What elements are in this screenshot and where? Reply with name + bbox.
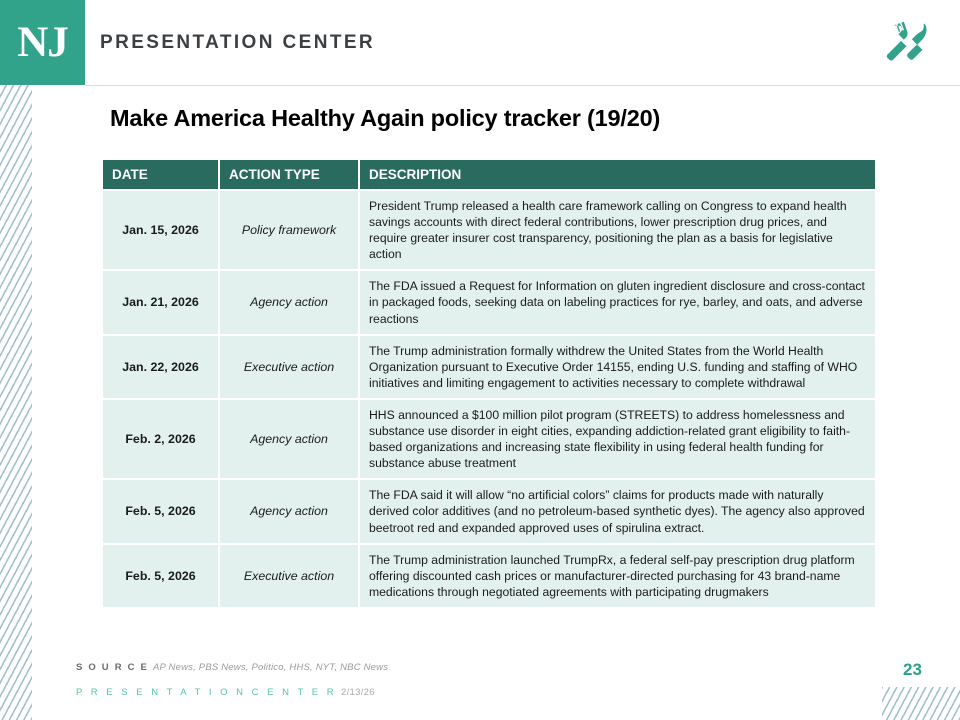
policy-tracker-table: DATE ACTION TYPE DESCRIPTION Jan. 15, 20… xyxy=(103,160,875,607)
cell-description: President Trump released a health care f… xyxy=(359,190,875,270)
table-row: Jan. 22, 2026 Executive action The Trump… xyxy=(103,335,875,399)
page-title: Make America Healthy Again policy tracke… xyxy=(110,105,660,132)
cell-description: The FDA said it will allow “no artificia… xyxy=(359,479,875,543)
cell-action-type: Policy framework xyxy=(219,190,359,270)
slide-footer: S O U R C E AP News, PBS News, Politico,… xyxy=(76,654,388,704)
table-row: Feb. 5, 2026 Executive action The Trump … xyxy=(103,544,875,607)
source-line: S O U R C E AP News, PBS News, Politico,… xyxy=(76,654,388,679)
page-number: 23 xyxy=(903,660,922,680)
nj-logo: NJ xyxy=(0,0,85,85)
cell-action-type: Agency action xyxy=(219,270,359,334)
footer-date: 2/13/26 xyxy=(341,687,375,698)
cell-date: Feb. 5, 2026 xyxy=(103,544,219,607)
header-divider xyxy=(85,85,960,86)
column-header-action-type: ACTION TYPE xyxy=(219,160,359,190)
cell-action-type: Executive action xyxy=(219,544,359,607)
table-row: Feb. 5, 2026 Agency action The FDA said … xyxy=(103,479,875,543)
cell-description: The Trump administration formally withdr… xyxy=(359,335,875,399)
bottom-right-stripe-decoration xyxy=(882,687,960,720)
brand-title: PRESENTATION CENTER xyxy=(100,32,375,54)
presentation-center-label: P R E S E N T A T I O N C E N T E R xyxy=(76,687,337,698)
cell-action-type: Agency action xyxy=(219,399,359,479)
cell-date: Jan. 21, 2026 xyxy=(103,270,219,334)
cell-description: The Trump administration launched TrumpR… xyxy=(359,544,875,607)
cell-description: HHS announced a $100 million pilot progr… xyxy=(359,399,875,479)
cell-action-type: Executive action xyxy=(219,335,359,399)
left-edge-stripe-decoration xyxy=(0,85,32,720)
cell-description: The FDA issued a Request for Information… xyxy=(359,270,875,334)
column-header-date: DATE xyxy=(103,160,219,190)
source-value: AP News, PBS News, Politico, HHS, NYT, N… xyxy=(153,662,388,673)
nj-logo-text: NJ xyxy=(17,21,68,64)
cell-date: Feb. 2, 2026 xyxy=(103,399,219,479)
header-bar: NJ PRESENTATION CENTER xyxy=(0,0,960,86)
table-header-row: DATE ACTION TYPE DESCRIPTION xyxy=(103,160,875,190)
cell-action-type: Agency action xyxy=(219,479,359,543)
cell-date: Feb. 5, 2026 xyxy=(103,479,219,543)
presentation-center-line: P R E S E N T A T I O N C E N T E R 2/13… xyxy=(76,679,388,704)
table-row: Jan. 15, 2026 Policy framework President… xyxy=(103,190,875,270)
fork-and-knife-icon xyxy=(882,16,936,70)
cell-date: Jan. 15, 2026 xyxy=(103,190,219,270)
table-row: Jan. 21, 2026 Agency action The FDA issu… xyxy=(103,270,875,334)
column-header-description: DESCRIPTION xyxy=(359,160,875,190)
cell-date: Jan. 22, 2026 xyxy=(103,335,219,399)
table-row: Feb. 2, 2026 Agency action HHS announced… xyxy=(103,399,875,479)
source-label: S O U R C E xyxy=(76,662,149,673)
